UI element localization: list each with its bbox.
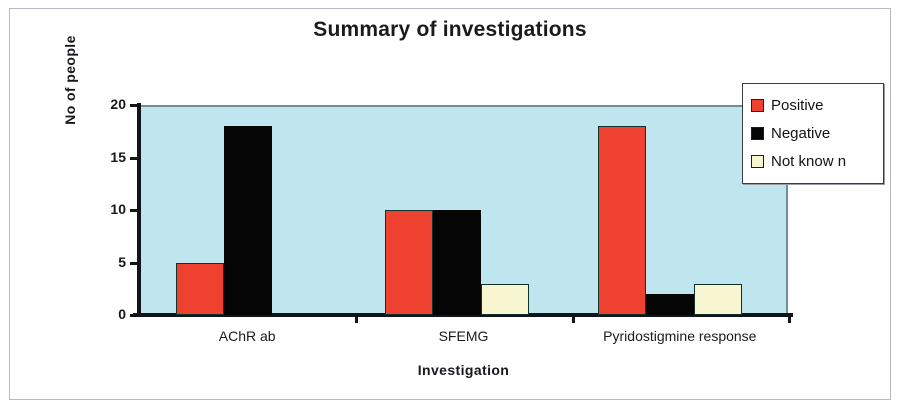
- y-axis-tick-label: 0: [86, 306, 126, 322]
- bar: [224, 126, 272, 315]
- legend-swatch-icon: [751, 99, 764, 112]
- y-axis-tick: [130, 104, 139, 107]
- x-axis-tick: [355, 315, 358, 323]
- x-axis-title: Investigation: [139, 362, 788, 378]
- bar: [481, 284, 529, 316]
- legend-swatch-icon: [751, 155, 764, 168]
- legend-label: Negative: [771, 125, 830, 142]
- legend-item-positive[interactable]: Positive: [751, 91, 877, 119]
- y-axis-tick-label: 10: [86, 201, 126, 217]
- legend-item-negative[interactable]: Negative: [751, 119, 877, 147]
- y-axis-tick-label: 15: [86, 149, 126, 165]
- legend-label: Positive: [771, 97, 824, 114]
- bar: [694, 284, 742, 316]
- y-axis-tick: [130, 157, 139, 160]
- chart-figure: Summary of investigations 05101520 AChR …: [0, 0, 900, 408]
- y-axis-tick: [130, 209, 139, 212]
- y-axis-title: No of people: [62, 10, 78, 150]
- legend-swatch-icon: [751, 127, 764, 140]
- x-axis-tick: [788, 315, 791, 323]
- y-axis-tick: [130, 262, 139, 265]
- x-axis-category-label: Pyridostigmine response: [532, 328, 828, 344]
- bar: [646, 294, 694, 315]
- bar: [385, 210, 433, 315]
- chart-title: Summary of investigations: [0, 18, 900, 42]
- x-axis-tick: [572, 315, 575, 323]
- chart-legend: Positive Negative Not know n: [742, 83, 884, 184]
- bar: [598, 126, 646, 315]
- legend-label: Not know n: [771, 153, 846, 170]
- y-axis-tick-label: 5: [86, 254, 126, 270]
- y-axis-tick-label: 20: [86, 96, 126, 112]
- bar: [176, 263, 224, 316]
- bar: [433, 210, 481, 315]
- y-axis-tick: [130, 314, 139, 317]
- legend-item-not-known[interactable]: Not know n: [751, 147, 877, 175]
